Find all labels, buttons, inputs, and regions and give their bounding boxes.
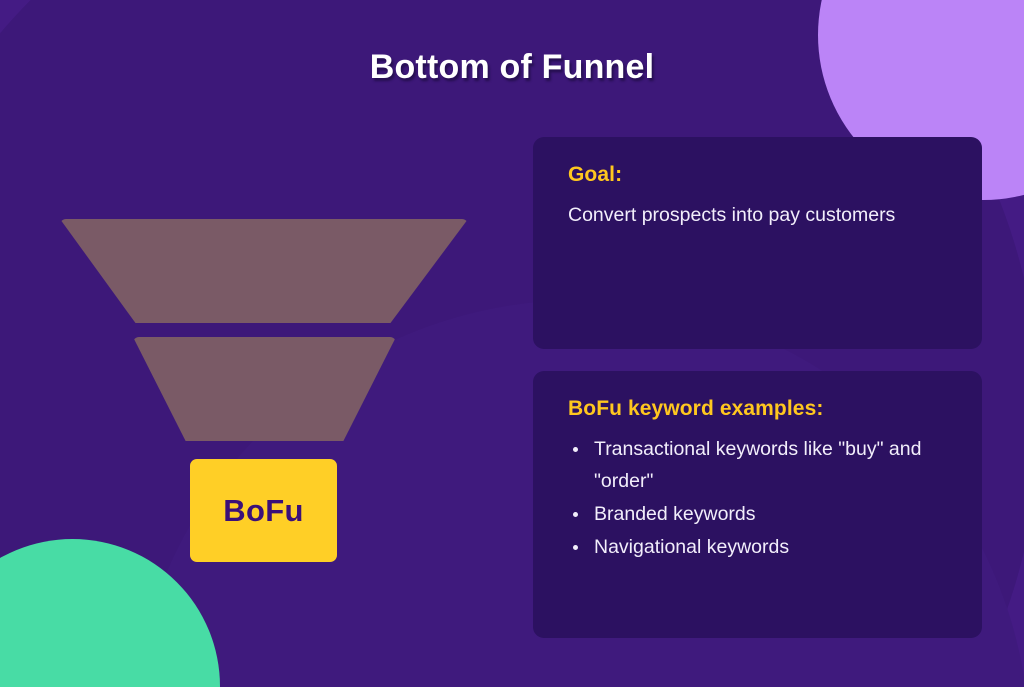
goal-card-heading: Goal: — [568, 163, 950, 187]
list-item: Navigational keywords — [568, 531, 950, 563]
goal-card-body: Convert prospects into pay customers — [568, 199, 908, 231]
list-item: Branded keywords — [568, 498, 950, 530]
funnel-stage-bofu-label: BoFu — [223, 493, 303, 529]
keyword-examples-card: BoFu keyword examples: Transactional key… — [533, 371, 982, 638]
goal-card: Goal: Convert prospects into pay custome… — [533, 137, 982, 349]
keyword-examples-list: Transactional keywords like "buy" and "o… — [568, 433, 950, 563]
list-item: Transactional keywords like "buy" and "o… — [568, 433, 950, 497]
slide-bottom-of-funnel: Bottom of Funnel BoFu Goal: Convert pros… — [0, 0, 1024, 687]
page-title: Bottom of Funnel — [0, 48, 1024, 87]
funnel-stage-bofu[interactable]: BoFu — [190, 459, 337, 562]
keyword-examples-heading: BoFu keyword examples: — [568, 397, 950, 421]
